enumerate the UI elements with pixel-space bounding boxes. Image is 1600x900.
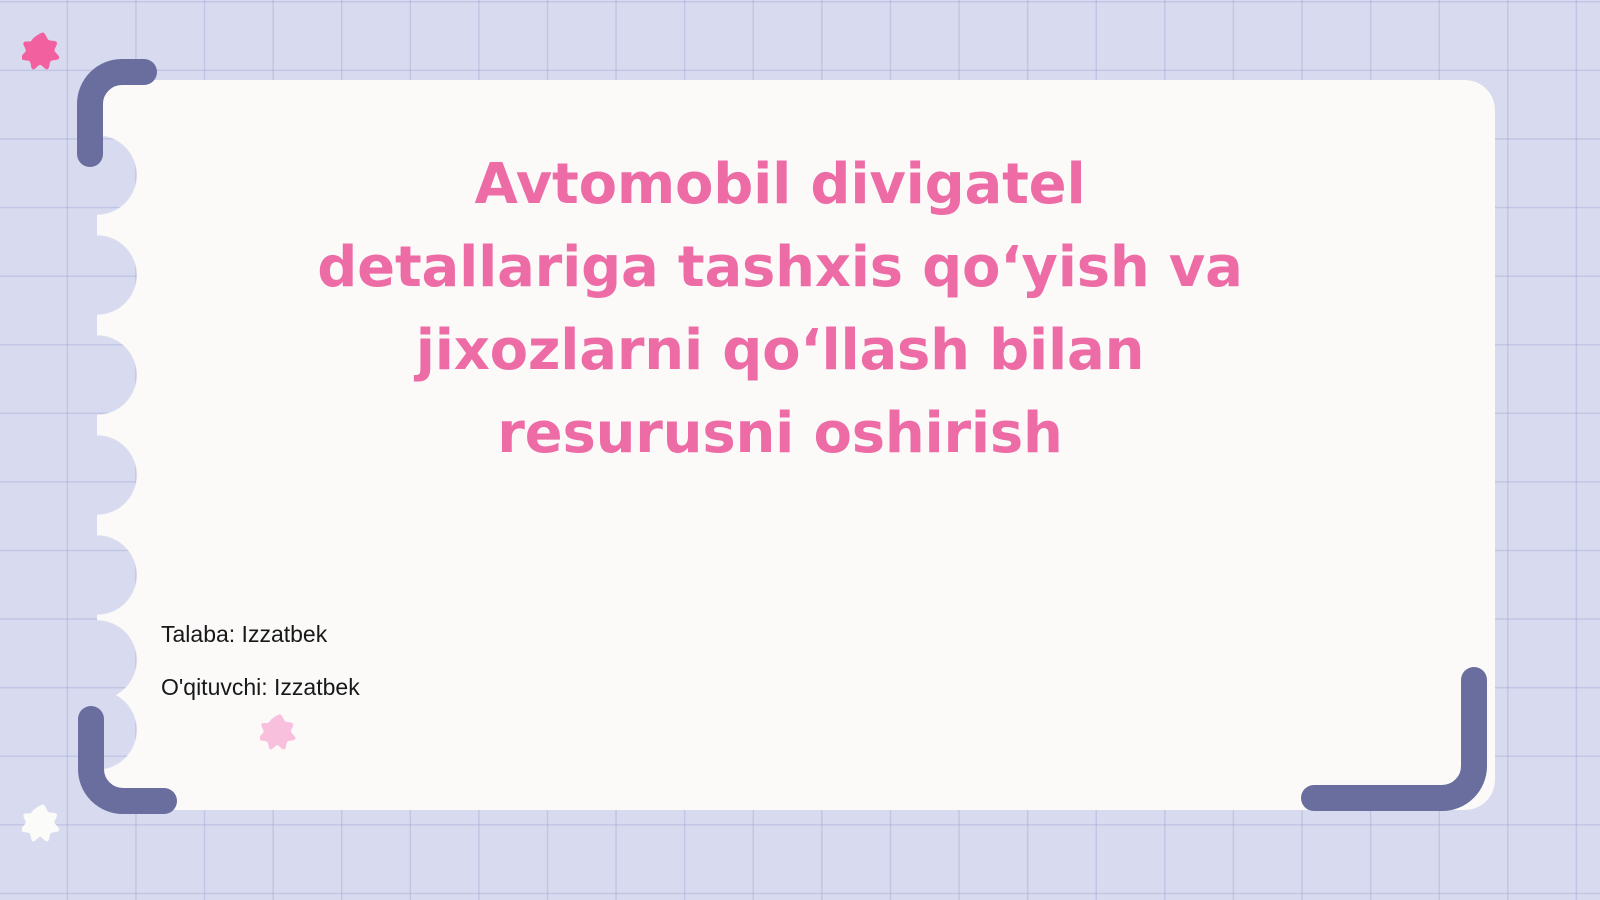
star-icon <box>22 802 64 844</box>
student-line: Talaba: Izzatbek <box>161 608 861 661</box>
slide-title: Avtomobil divigatel detallariga tashxis … <box>160 143 1400 475</box>
presentation-slide: Avtomobil divigatel detallariga tashxis … <box>0 0 1600 900</box>
star-icon <box>260 712 300 752</box>
star-icon <box>22 30 64 72</box>
teacher-line: O'qituvchi: Izzatbek <box>161 661 861 714</box>
slide-meta: Talaba: Izzatbek O'qituvchi: Izzatbek <box>161 608 861 714</box>
